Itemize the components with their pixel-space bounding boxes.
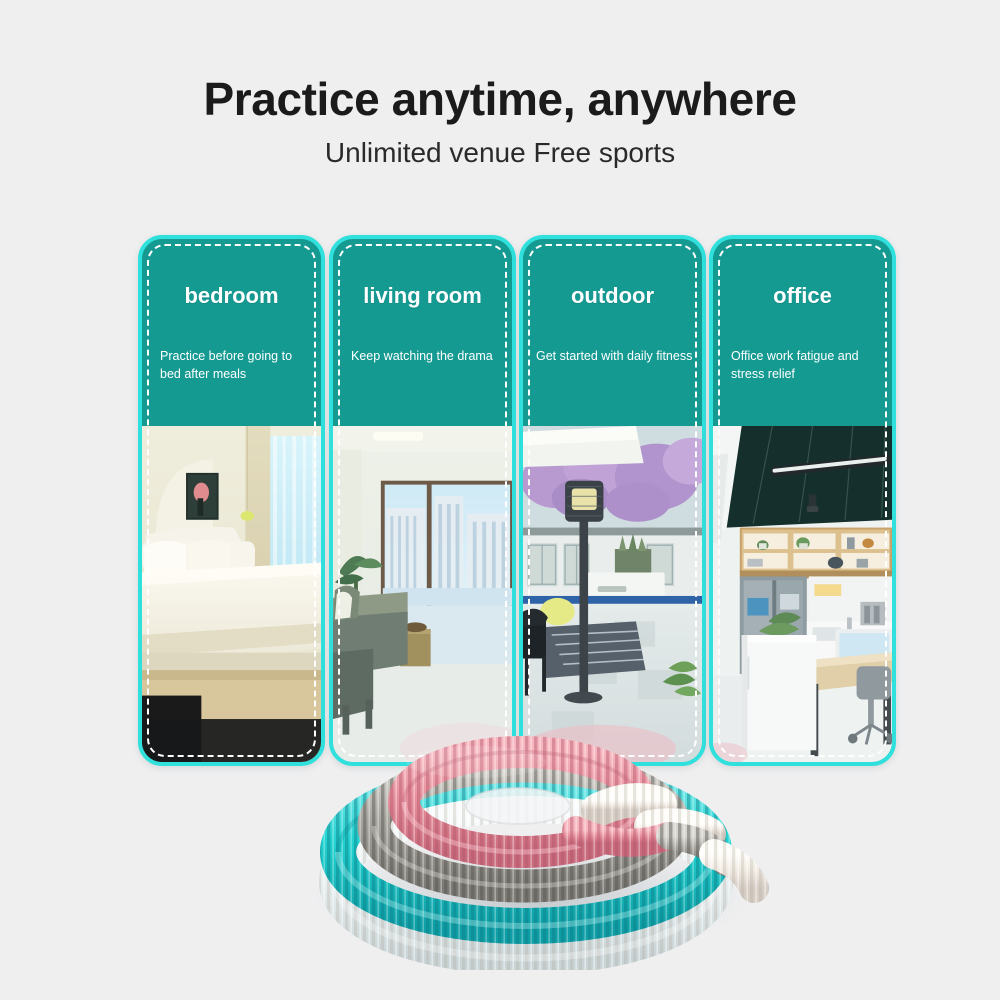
card-title: office: [713, 285, 892, 307]
card-title: bedroom: [142, 285, 321, 307]
card-description: Practice before going to bed after meals: [160, 347, 311, 383]
card-description: Office work fatigue and stress relief: [731, 347, 882, 383]
coiled-spring-fitness-hoop: [246, 630, 806, 970]
card-title: outdoor: [523, 285, 702, 307]
page-root: Practice anytime, anywhere Unlimited ven…: [0, 0, 1000, 1000]
card-description: Keep watching the drama: [351, 347, 502, 365]
card-description: Get started with daily fitness: [536, 347, 699, 365]
card-title: living room: [333, 285, 512, 307]
